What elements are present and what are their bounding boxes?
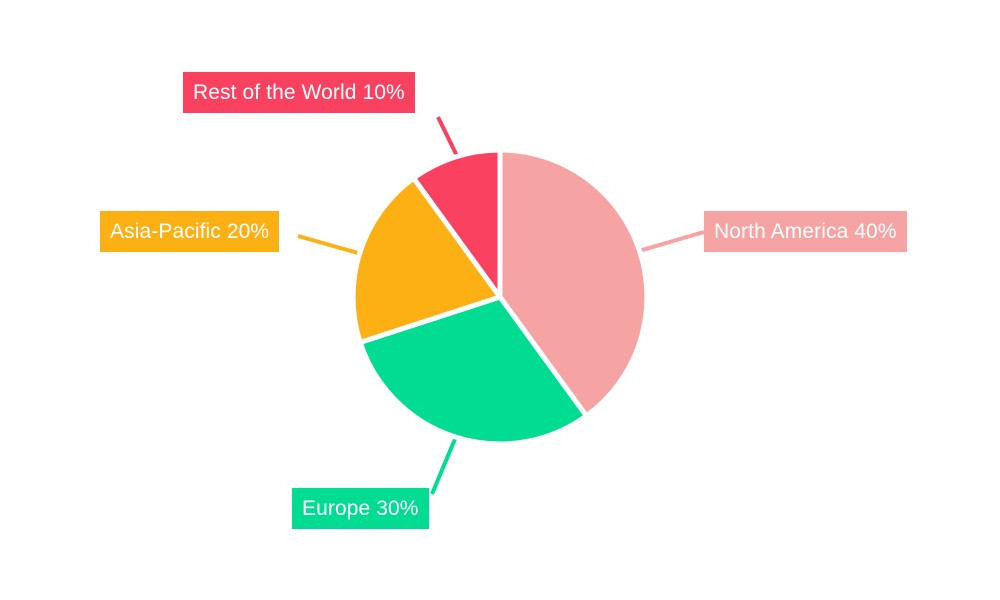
leader-line-rest-world bbox=[438, 117, 459, 160]
pie-chart-svg bbox=[0, 0, 1000, 600]
pie-label-asia-pacific[interactable]: Asia-Pacific 20% bbox=[100, 211, 279, 252]
pie-label-north-america-text: North America 40% bbox=[714, 211, 897, 252]
leader-line-europe bbox=[432, 439, 455, 494]
pie-label-north-america[interactable]: North America 40% bbox=[704, 211, 907, 252]
leader-line-north-america bbox=[632, 232, 704, 253]
leader-line-asia-pacific bbox=[298, 236, 358, 253]
pie-slices bbox=[353, 150, 647, 444]
pie-label-europe[interactable]: Europe 30% bbox=[292, 488, 429, 529]
pie-chart-figure: North America 40% Europe 30% Asia-Pacifi… bbox=[0, 0, 1000, 600]
pie-label-europe-text: Europe 30% bbox=[302, 488, 419, 529]
pie-label-asia-pacific-text: Asia-Pacific 20% bbox=[110, 211, 269, 252]
pie-label-rest-world[interactable]: Rest of the World 10% bbox=[183, 72, 415, 113]
pie-label-rest-world-text: Rest of the World 10% bbox=[193, 72, 405, 113]
